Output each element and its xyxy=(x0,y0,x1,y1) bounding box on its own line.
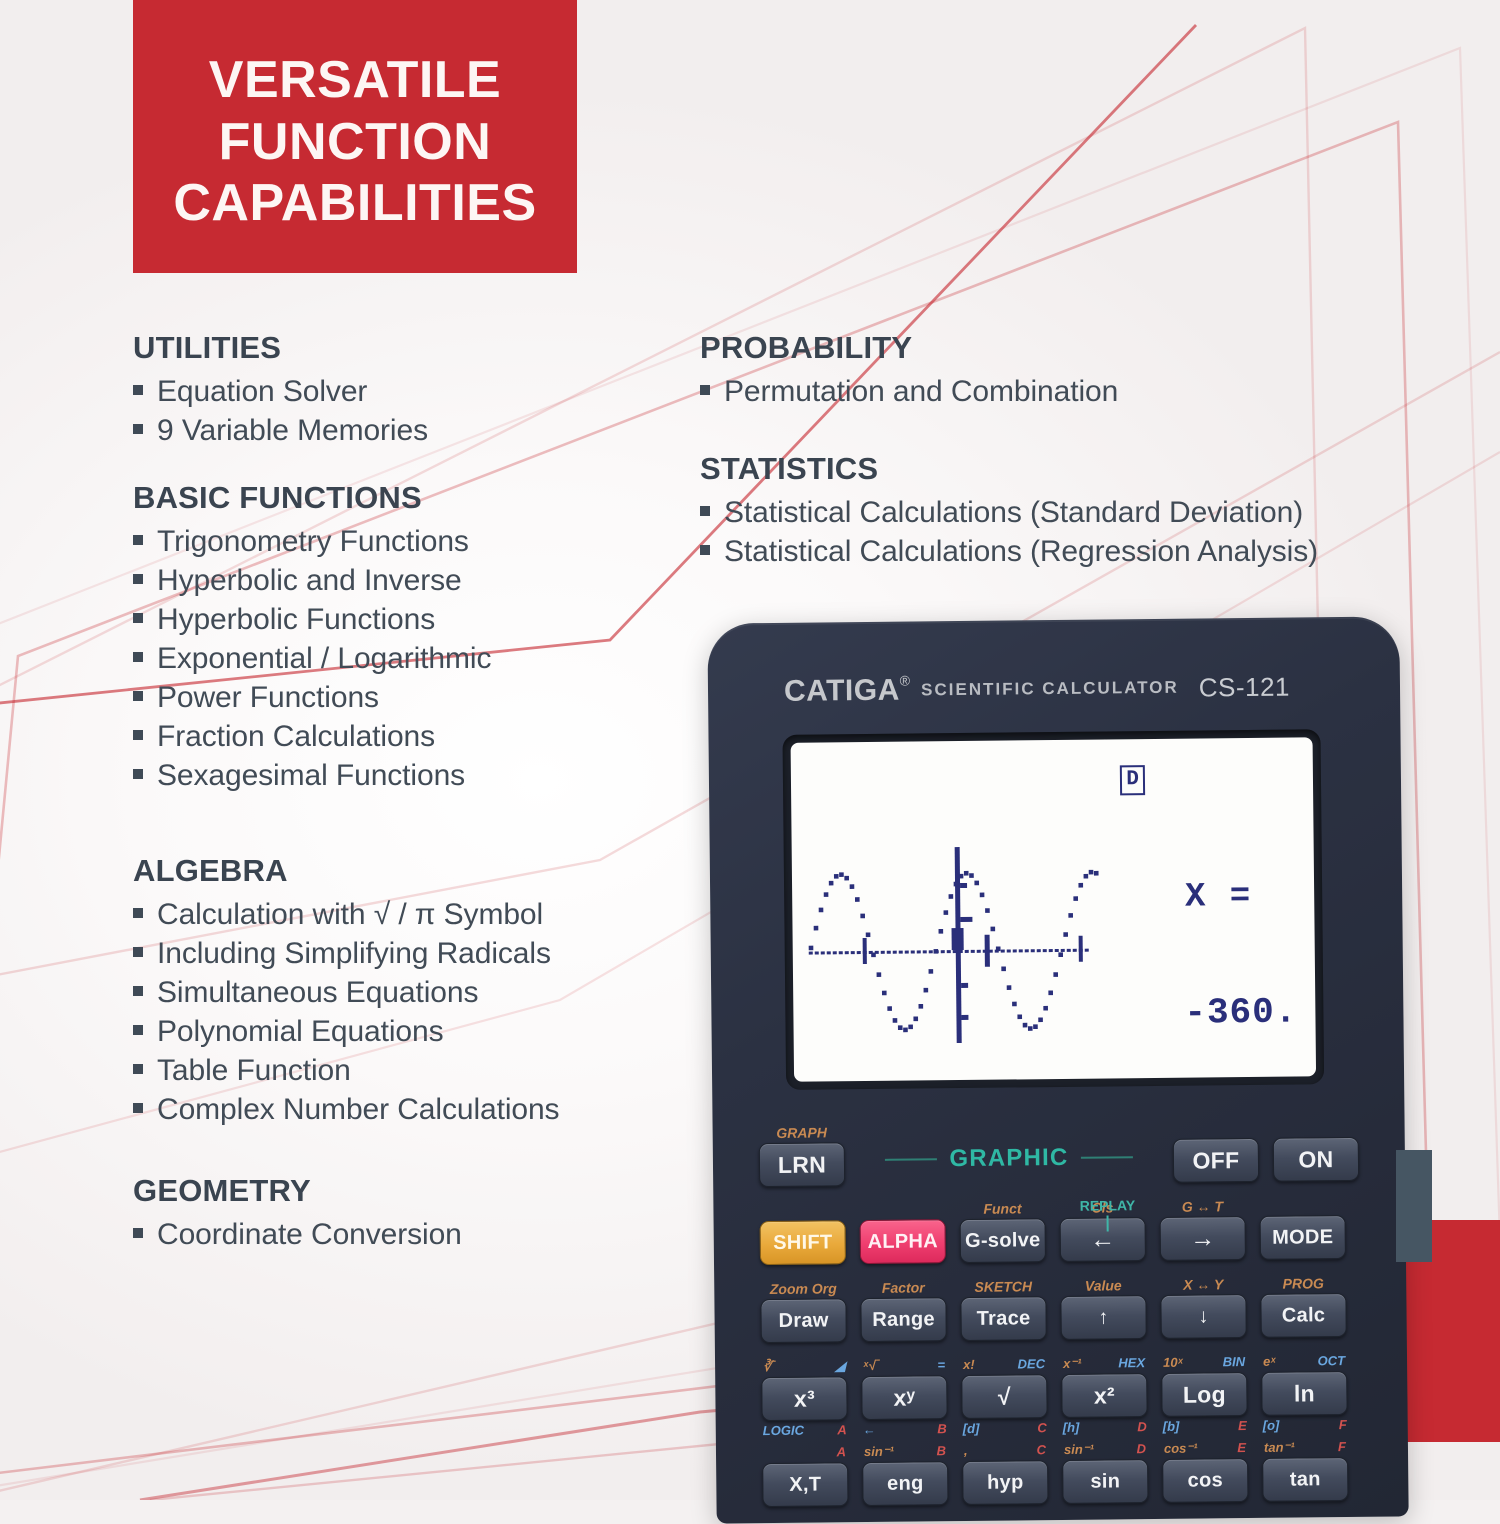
key-label-blue: A xyxy=(836,1442,846,1462)
section-heading: UTILITIES xyxy=(133,330,693,366)
key-label-orange: , xyxy=(964,1441,968,1461)
feature-list: Statistical Calculations (Standard Devia… xyxy=(700,493,1490,571)
key-tertiary-label: LOGICA xyxy=(762,1422,848,1438)
title-line-2: FUNCTION xyxy=(173,112,536,173)
key-label-orange: ∛‾ xyxy=(763,1357,776,1377)
key-alpha[interactable]: ALPHA xyxy=(860,1219,946,1264)
key-cell: sin⁻¹Dsin xyxy=(1062,1439,1149,1504)
bullet-square-icon xyxy=(133,691,143,701)
key-cell-alpha: ALPHA xyxy=(859,1199,946,1264)
key-trig-2[interactable]: hyp xyxy=(962,1460,1048,1505)
key-label-red: D xyxy=(1137,1419,1147,1434)
key-trig-0[interactable]: X,T xyxy=(762,1462,848,1507)
key-label-orange: cos⁻¹ xyxy=(1164,1439,1198,1459)
graphic-rule-right xyxy=(1080,1156,1132,1159)
page-title: VERSATILE FUNCTION CAPABILITIES xyxy=(173,32,536,234)
key-label-blue: OCT xyxy=(1318,1351,1346,1371)
bullet-square-icon xyxy=(133,908,143,918)
bullet-square-icon xyxy=(133,1025,143,1035)
list-item-label: Exponential / Logarithmic xyxy=(157,639,491,678)
lcd-x-value: -360. xyxy=(1184,991,1297,1033)
section-heading: ALGEBRA xyxy=(133,853,693,889)
key-mode[interactable]: MODE xyxy=(1260,1215,1346,1260)
key-lrn[interactable]: LRN xyxy=(759,1142,845,1187)
key-[interactable]: ↑ xyxy=(1060,1295,1146,1340)
key-label-red: A xyxy=(837,1422,847,1437)
label-funct: Funct xyxy=(959,1198,1045,1219)
key-cell: sin⁻¹Beng xyxy=(862,1441,949,1506)
key-power-0[interactable]: x³ xyxy=(761,1376,847,1421)
calculator-side-tab xyxy=(1396,1150,1432,1262)
key-cell-shift: SHIFT xyxy=(759,1200,846,1265)
key-cell: 10ˣBINLog[b]E xyxy=(1161,1352,1248,1417)
list-item-label: Trigonometry Functions xyxy=(157,522,469,561)
key-cell: FactorRange xyxy=(860,1277,947,1342)
bullet-square-icon xyxy=(133,424,143,434)
key-cell: Value↑ xyxy=(1060,1275,1147,1340)
section-heading: STATISTICS xyxy=(700,451,1490,487)
feature-list: Permutation and Combination xyxy=(700,372,1490,411)
label-g-to-t: G ↔ T xyxy=(1159,1196,1245,1217)
calculator-keypad: GRAPH LRN GRAPHIC OFF ON SHIFT xyxy=(759,1117,1363,1521)
key-trig-4[interactable]: cos xyxy=(1162,1458,1248,1503)
key-secondary-label: Factor xyxy=(860,1277,946,1298)
key-label-orange: x! xyxy=(963,1355,975,1375)
list-item-label: 9 Variable Memories xyxy=(157,411,428,450)
calculator-subtitle: SCIENTIFIC CALCULATOR xyxy=(921,678,1179,701)
list-item: Including Simplifying Radicals xyxy=(133,934,693,973)
calculator-model-number: CS-121 xyxy=(1199,671,1290,703)
section-heading: BASIC FUNCTIONS xyxy=(133,480,693,516)
key-secondary-label: ∛‾◢ xyxy=(761,1356,847,1377)
list-item: Table Function xyxy=(133,1051,693,1090)
list-item-label: Statistical Calculations (Regression Ana… xyxy=(724,532,1318,571)
list-item-label: Including Simplifying Radicals xyxy=(157,934,551,973)
key-trig-1[interactable]: eng xyxy=(862,1461,948,1506)
key-trig-5[interactable]: tan xyxy=(1262,1457,1348,1502)
key-cell: tan⁻¹Ftan xyxy=(1262,1437,1349,1502)
label-spacer-shift xyxy=(759,1200,845,1221)
key-label-red: B xyxy=(937,1421,947,1436)
key-label-red: F xyxy=(1339,1417,1347,1432)
list-item: Complex Number Calculations xyxy=(133,1090,693,1129)
key-power-4[interactable]: Log xyxy=(1161,1372,1247,1417)
key-power-1[interactable]: xʸ xyxy=(861,1375,947,1420)
key-secondary-label: SKETCH xyxy=(960,1276,1046,1297)
list-item-label: Power Functions xyxy=(157,678,379,717)
bullet-square-icon xyxy=(133,986,143,996)
key-label-blue: [d] xyxy=(963,1421,980,1436)
key-label-blue: = xyxy=(937,1355,945,1375)
key-cell-off: OFF xyxy=(1173,1118,1260,1183)
replay-stem-icon xyxy=(1048,1215,1168,1232)
key-cell: X ↔ Y↓ xyxy=(1160,1274,1247,1339)
key-power-2[interactable]: √ xyxy=(961,1374,1047,1419)
key-secondary-label: x!DEC xyxy=(961,1354,1047,1375)
feature-section: PROBABILITYPermutation and Combination xyxy=(700,330,1490,411)
key-tertiary-label: [d]C xyxy=(962,1420,1048,1436)
bullet-square-icon xyxy=(133,1064,143,1074)
keypad-row-2: SHIFT ALPHA Funct G-solve Cls ← G ↔ T → … xyxy=(759,1195,1360,1265)
key-secondary-label: tan⁻¹F xyxy=(1262,1437,1348,1458)
list-item-label: Permutation and Combination xyxy=(724,372,1118,411)
key-label-blue: LOGIC xyxy=(763,1423,804,1438)
key-label-blue: C xyxy=(1036,1440,1046,1460)
key-label-orange: x⁻¹ xyxy=(1063,1354,1082,1374)
key-label-blue: D xyxy=(1136,1439,1146,1459)
feature-section: ALGEBRACalculation with √ / π SymbolIncl… xyxy=(133,853,693,1129)
key-cell: AX,T xyxy=(762,1442,849,1507)
key-arrow-right-icon[interactable]: → xyxy=(1160,1216,1246,1261)
bullet-square-icon xyxy=(133,535,143,545)
label-graph: GRAPH xyxy=(759,1122,845,1143)
list-item: Sexagesimal Functions xyxy=(133,756,693,795)
key-label-orange: 10ˣ xyxy=(1163,1353,1183,1373)
calculator-brand-bar: CATIGA ® SCIENTIFIC CALCULATOR CS-121 xyxy=(708,660,1400,717)
list-item: Hyperbolic and Inverse xyxy=(133,561,693,600)
key-power-5[interactable]: ln xyxy=(1261,1371,1347,1416)
key-secondary-label: sin⁻¹B xyxy=(862,1441,948,1462)
key-label-blue: ◢ xyxy=(835,1356,845,1376)
section-heading: PROBABILITY xyxy=(700,330,1490,366)
key-cell: ,Chyp xyxy=(962,1440,1049,1505)
key-secondary-label: X ↔ Y xyxy=(1160,1274,1246,1295)
key-shift[interactable]: SHIFT xyxy=(760,1220,846,1265)
key-calc[interactable]: Calc xyxy=(1260,1293,1346,1338)
bullet-square-icon xyxy=(133,574,143,584)
key-label-orange: sin⁻¹ xyxy=(864,1442,894,1462)
graphic-rule-left xyxy=(885,1158,937,1161)
key-label-blue: E xyxy=(1237,1438,1246,1458)
lcd-sine-graph xyxy=(802,831,1124,1064)
key-trig-3[interactable]: sin xyxy=(1062,1459,1148,1504)
label-spacer-on xyxy=(1273,1117,1359,1138)
bullet-square-icon xyxy=(700,506,710,516)
key-off[interactable]: OFF xyxy=(1173,1138,1259,1183)
key-range[interactable]: Range xyxy=(860,1297,946,1342)
key-cell: SKETCHTrace xyxy=(960,1276,1047,1341)
key-secondary-label: eˣOCT xyxy=(1261,1351,1347,1372)
key-secondary-label: ˣ√‾= xyxy=(861,1355,947,1376)
key-cell-mode: MODE xyxy=(1259,1195,1346,1260)
bullet-square-icon xyxy=(133,652,143,662)
key-label-red: E xyxy=(1238,1418,1247,1433)
key-cell-lrn: GRAPH LRN xyxy=(759,1122,846,1187)
feature-list: Trigonometry FunctionsHyperbolic and Inv… xyxy=(133,522,693,795)
list-item: Coordinate Conversion xyxy=(133,1215,693,1254)
key-label-blue: [b] xyxy=(1163,1419,1180,1434)
lcd-mode-indicator: D xyxy=(1120,765,1145,795)
list-item-label: Sexagesimal Functions xyxy=(157,756,465,795)
key-cell: cos⁻¹Ecos xyxy=(1162,1438,1249,1503)
title-line-1: VERSATILE xyxy=(173,50,536,111)
key-label-blue: [o] xyxy=(1263,1418,1280,1433)
label-replay: REPLAY xyxy=(1047,1195,1167,1216)
feature-column-right: PROBABILITYPermutation and CombinationST… xyxy=(700,330,1490,601)
list-item: Polynomial Equations xyxy=(133,1012,693,1051)
calculator-device: CATIGA ® SCIENTIFIC CALCULATOR CS-121 D … xyxy=(707,616,1408,1523)
key-cell-on: ON xyxy=(1273,1117,1360,1182)
key-cell: PROGCalc xyxy=(1260,1273,1347,1338)
key-secondary-label: PROG xyxy=(1260,1273,1346,1294)
list-item-label: Hyperbolic Functions xyxy=(157,600,435,639)
key-label-blue: B xyxy=(936,1441,946,1461)
list-item: 9 Variable Memories xyxy=(133,411,693,450)
label-spacer-off xyxy=(1173,1118,1259,1139)
key-draw[interactable]: Draw xyxy=(760,1298,846,1343)
key-cell: Zoom OrgDraw xyxy=(760,1278,847,1343)
list-item: Permutation and Combination xyxy=(700,372,1490,411)
key-trace[interactable]: Trace xyxy=(960,1296,1046,1341)
key-label-red: C xyxy=(1037,1420,1047,1435)
list-item: Calculation with √ / π Symbol xyxy=(133,895,693,934)
keypad-row-5: AX,Tsin⁻¹Beng,Chypsin⁻¹Dsincos⁻¹Ecostan⁻… xyxy=(762,1437,1363,1507)
bullet-square-icon xyxy=(700,545,710,555)
key-tertiary-label: [h]D xyxy=(1062,1419,1148,1435)
bullet-square-icon xyxy=(133,613,143,623)
key-tertiary-label: ←B xyxy=(862,1421,948,1437)
list-item-label: Table Function xyxy=(157,1051,351,1090)
list-item-label: Hyperbolic and Inverse xyxy=(157,561,462,600)
key-label-orange: tan⁻¹ xyxy=(1264,1438,1295,1458)
key-label-orange: eˣ xyxy=(1263,1352,1276,1372)
feature-section: GEOMETRYCoordinate Conversion xyxy=(133,1173,693,1254)
feature-list: Coordinate Conversion xyxy=(133,1215,693,1254)
label-spacer-alpha xyxy=(859,1199,945,1220)
list-item-label: Fraction Calculations xyxy=(157,717,435,756)
lcd-screen: D X = -360. xyxy=(791,737,1317,1081)
list-item-label: Coordinate Conversion xyxy=(157,1215,462,1254)
bullet-square-icon xyxy=(133,947,143,957)
key-cell-gsolve: Funct G-solve xyxy=(959,1198,1046,1263)
key-cell: ˣ√‾=xʸ←B xyxy=(861,1355,948,1420)
feature-section: BASIC FUNCTIONSTrigonometry FunctionsHyp… xyxy=(133,480,693,795)
key-secondary-label: Value xyxy=(1060,1275,1146,1296)
key-tertiary-label: [o]F xyxy=(1262,1417,1348,1433)
list-item-label: Equation Solver xyxy=(157,372,367,411)
feature-column-left: UTILITIESEquation Solver9 Variable Memor… xyxy=(133,330,693,1284)
bullet-square-icon xyxy=(133,1103,143,1113)
graphic-mode-strip: GRAPHIC xyxy=(845,1143,1173,1186)
key-label-blue: DEC xyxy=(1018,1354,1046,1374)
key-cell: eˣOCTln[o]F xyxy=(1261,1351,1348,1416)
key-g-solve[interactable]: G-solve xyxy=(960,1218,1046,1263)
keypad-row-4: ∛‾◢x³LOGICAˣ√‾=xʸ←Bx!DEC√[d]Cx⁻¹HEXx²[h]… xyxy=(761,1351,1362,1421)
list-item: Statistical Calculations (Regression Ana… xyxy=(700,532,1490,571)
keypad-row-1: GRAPH LRN GRAPHIC OFF ON xyxy=(759,1117,1360,1187)
key-cell: x!DEC√[d]C xyxy=(961,1354,1048,1419)
key-tertiary-label: [b]E xyxy=(1162,1418,1248,1434)
feature-section: UTILITIESEquation Solver9 Variable Memor… xyxy=(133,330,693,450)
bullet-square-icon xyxy=(700,385,710,395)
title-banner: VERSATILE FUNCTION CAPABILITIES xyxy=(133,0,577,273)
key-secondary-label: ,C xyxy=(962,1440,1048,1461)
label-spacer-mode xyxy=(1259,1195,1345,1216)
key-power-3[interactable]: x² xyxy=(1061,1373,1147,1418)
key-cell-right-arrow: G ↔ T → xyxy=(1159,1196,1246,1261)
list-item: Equation Solver xyxy=(133,372,693,411)
keypad-row-3: Zoom OrgDrawFactorRangeSKETCHTraceValue↑… xyxy=(760,1273,1361,1343)
key-label-orange: ˣ√‾ xyxy=(863,1356,880,1376)
list-item: Power Functions xyxy=(133,678,693,717)
key-secondary-label: 10ˣBIN xyxy=(1161,1352,1247,1373)
list-item-label: Simultaneous Equations xyxy=(157,973,478,1012)
label-graphic: GRAPHIC xyxy=(949,1144,1068,1173)
feature-list: Equation Solver9 Variable Memories xyxy=(133,372,693,450)
list-item-label: Complex Number Calculations xyxy=(157,1090,559,1129)
key-cell: x⁻¹HEXx²[h]D xyxy=(1061,1353,1148,1418)
list-item: Simultaneous Equations xyxy=(133,973,693,1012)
section-heading: GEOMETRY xyxy=(133,1173,693,1209)
registered-trademark-icon: ® xyxy=(900,673,910,689)
key-label-orange: sin⁻¹ xyxy=(1064,1440,1094,1460)
list-item: Statistical Calculations (Standard Devia… xyxy=(700,493,1490,532)
lcd-bezel: D X = -360. xyxy=(782,729,1324,1090)
key-label-blue: F xyxy=(1338,1437,1346,1457)
feature-list: Calculation with √ / π SymbolIncluding S… xyxy=(133,895,693,1129)
feature-section: STATISTICSStatistical Calculations (Stan… xyxy=(700,451,1490,571)
list-item: Exponential / Logarithmic xyxy=(133,639,693,678)
bullet-square-icon xyxy=(133,385,143,395)
list-item: Hyperbolic Functions xyxy=(133,600,693,639)
key-cell: ∛‾◢x³LOGICA xyxy=(761,1356,848,1421)
key-[interactable]: ↓ xyxy=(1160,1294,1246,1339)
list-item: Trigonometry Functions xyxy=(133,522,693,561)
key-label-blue: HEX xyxy=(1118,1353,1145,1373)
list-item-label: Statistical Calculations (Standard Devia… xyxy=(724,493,1303,532)
key-label-blue: ← xyxy=(863,1422,876,1437)
key-secondary-label: cos⁻¹E xyxy=(1162,1438,1248,1459)
key-on[interactable]: ON xyxy=(1273,1137,1359,1182)
bullet-square-icon xyxy=(133,769,143,779)
list-item: Fraction Calculations xyxy=(133,717,693,756)
list-item-label: Polynomial Equations xyxy=(157,1012,444,1051)
lcd-x-label: X = xyxy=(1185,878,1253,917)
key-label-blue: BIN xyxy=(1223,1352,1246,1372)
bullet-square-icon xyxy=(133,730,143,740)
list-item-label: Calculation with √ / π Symbol xyxy=(157,895,543,934)
brand-logo-text: CATIGA xyxy=(784,674,900,709)
title-line-3: CAPABILITIES xyxy=(173,173,536,234)
key-secondary-label: sin⁻¹D xyxy=(1062,1439,1148,1460)
key-secondary-label: x⁻¹HEX xyxy=(1061,1353,1147,1374)
key-secondary-label: A xyxy=(762,1442,848,1463)
bullet-square-icon xyxy=(133,1228,143,1238)
key-label-blue: [h] xyxy=(1063,1420,1080,1435)
key-secondary-label: Zoom Org xyxy=(760,1278,846,1299)
